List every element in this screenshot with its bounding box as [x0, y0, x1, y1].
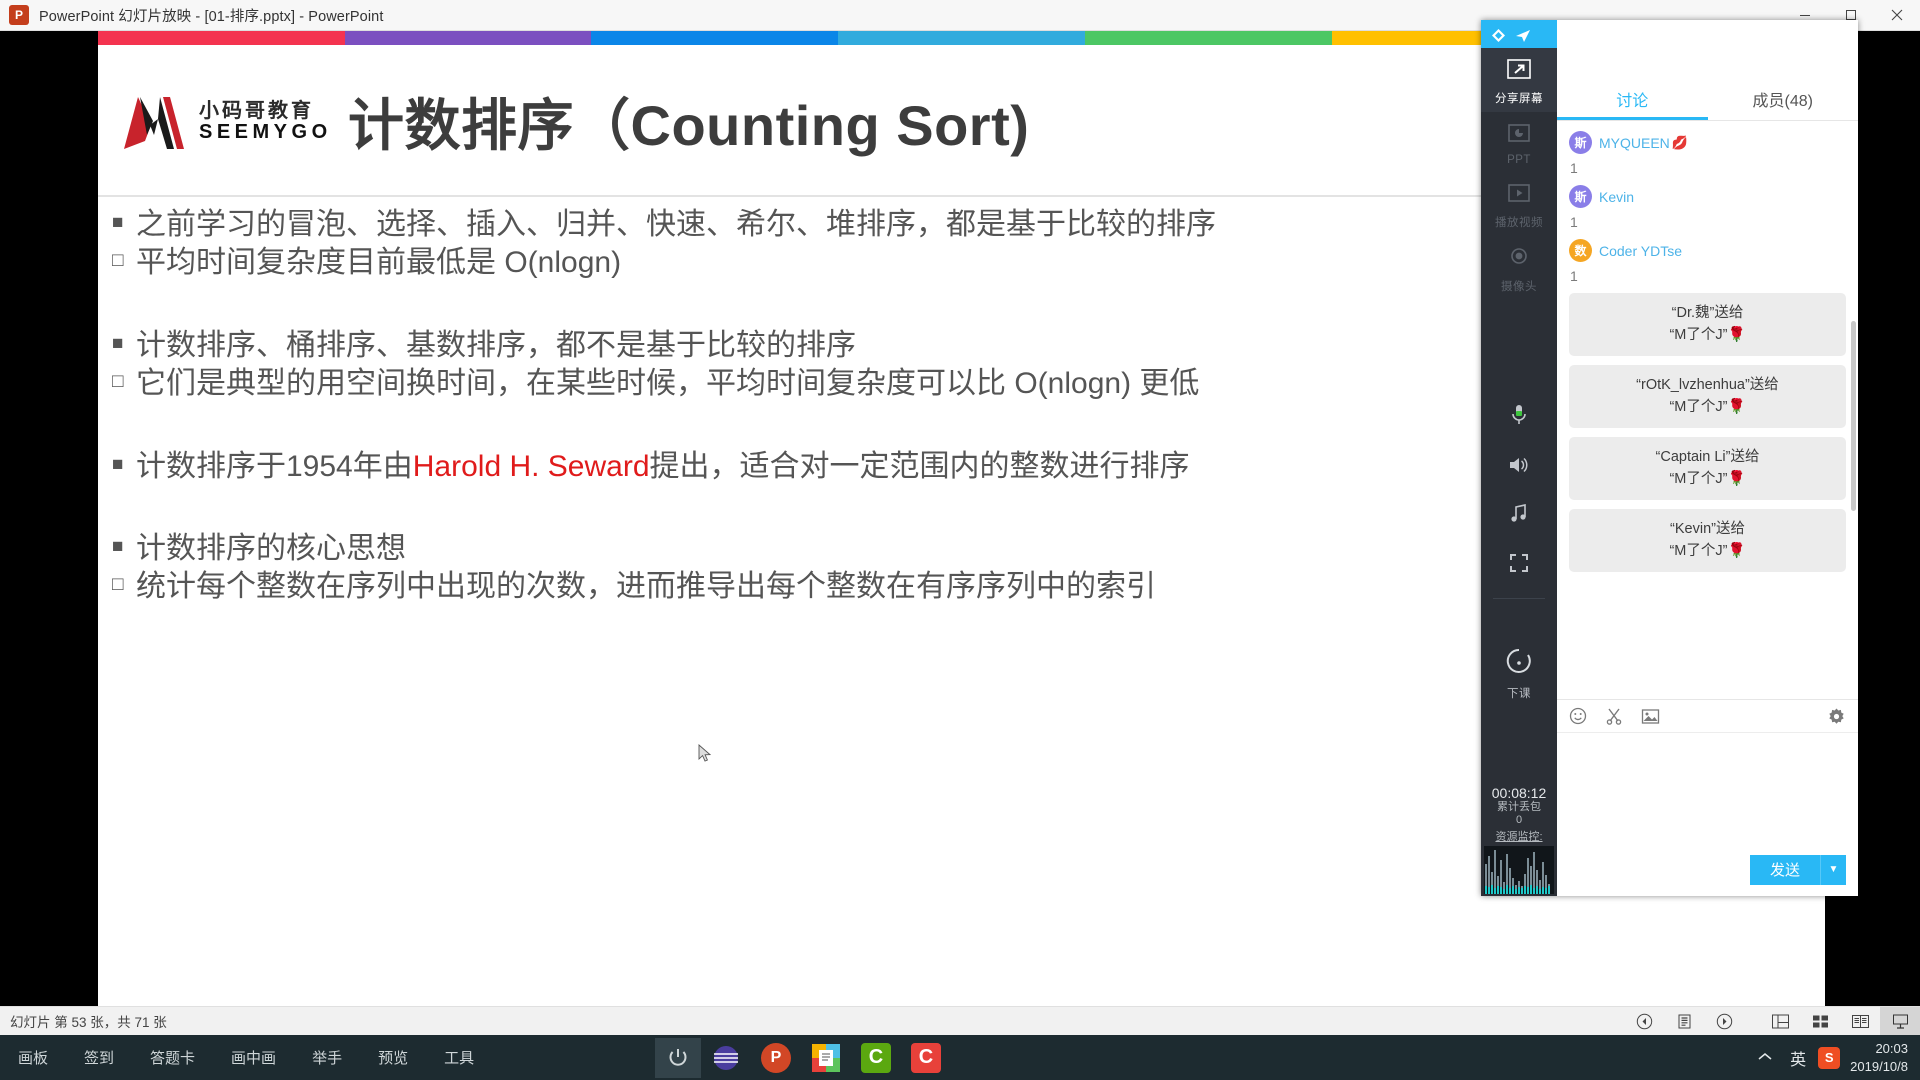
- gift-line-2: “M了个J”🌹: [1577, 324, 1838, 346]
- rainbow-seg-2: [345, 31, 592, 45]
- normal-view-icon[interactable]: [1760, 1007, 1800, 1036]
- gift-line-2: “M了个J”🌹: [1577, 540, 1838, 562]
- taskbar-tray: 英 S 20:03 2019/10/8: [1748, 1035, 1920, 1080]
- panel-left-toolbar: 分享屏幕 PPT 播放视频: [1481, 48, 1557, 896]
- music-button[interactable]: [1481, 492, 1557, 541]
- panel-right-column: 讨论 成员(48) 斯 MYQUEEN 💋 1 斯 Kevin: [1557, 20, 1858, 896]
- mouse-cursor: [698, 744, 712, 764]
- slide-sorter-icon[interactable]: [1800, 1007, 1840, 1036]
- message-body: 1: [1570, 160, 1846, 176]
- statusbar-icons: [1624, 1007, 1920, 1036]
- bullet-text-before: 计数排序于1954年由: [136, 451, 413, 483]
- gift-line-2: “M了个J”🌹: [1577, 396, 1838, 418]
- chevron-up-icon[interactable]: [1748, 1050, 1782, 1065]
- ppt-icon: [1504, 122, 1534, 146]
- fullscreen-icon: [1508, 552, 1530, 574]
- share-screen-button[interactable]: 分享屏幕: [1481, 48, 1557, 112]
- close-icon[interactable]: [1874, 0, 1920, 31]
- gift-notification: “rOtK_lvzhenhua”送给 “M了个J”🌹: [1569, 365, 1846, 428]
- logo-text-cn: 小码哥教育: [199, 101, 332, 122]
- fullscreen-button[interactable]: [1481, 541, 1557, 590]
- avatar[interactable]: 斯: [1569, 131, 1592, 154]
- message-author[interactable]: MYQUEEN: [1599, 135, 1670, 151]
- bullet-marker-filled: [112, 533, 136, 561]
- message-header: 数 Coder YDTse: [1569, 239, 1846, 262]
- chat-scrollbar[interactable]: [1851, 321, 1856, 511]
- tool-raise-hand[interactable]: 举手: [294, 1035, 360, 1080]
- diamond-badge-icon[interactable]: [1491, 28, 1506, 48]
- camera-icon: [1504, 246, 1534, 270]
- ppt-button[interactable]: PPT: [1481, 112, 1557, 172]
- message-body: 1: [1570, 268, 1846, 284]
- camtasia-green-icon[interactable]: C: [851, 1035, 901, 1080]
- chat-input[interactable]: [1557, 733, 1858, 843]
- rainbow-seg-5: [1085, 31, 1332, 45]
- chat-message: 数 Coder YDTse 1: [1569, 239, 1846, 284]
- microphone-icon: [1508, 403, 1530, 427]
- message-author[interactable]: Coder YDTse: [1599, 243, 1682, 259]
- ime-indicator[interactable]: 英: [1782, 1046, 1814, 1070]
- gift-notification: “Kevin”送给 “M了个J”🌹: [1569, 509, 1846, 572]
- play-video-icon: [1504, 182, 1534, 206]
- resource-monitor-graph: [1484, 846, 1554, 894]
- speaker-icon: [1507, 454, 1531, 476]
- avatar[interactable]: 斯: [1569, 185, 1592, 208]
- rainbow-seg-3: [591, 31, 838, 45]
- message-header: 斯 Kevin: [1569, 185, 1846, 208]
- taskbar-apps: P C C: [655, 1035, 951, 1080]
- sogou-icon[interactable]: S: [1818, 1047, 1840, 1069]
- powerpoint-icon: P: [9, 5, 29, 25]
- slide-title: 计数排序（Counting Sort): [348, 81, 1029, 162]
- packet-loss-value: 0: [1481, 814, 1557, 828]
- previous-slide-icon[interactable]: [1624, 1007, 1664, 1036]
- clock-date: 2019/10/8: [1850, 1058, 1908, 1076]
- chat-message: 斯 MYQUEEN 💋 1: [1569, 131, 1846, 176]
- bullet-marker-filled: [112, 451, 136, 479]
- gear-icon[interactable]: [1827, 707, 1846, 726]
- camera-label: 摄像头: [1481, 278, 1557, 294]
- bullet-marker-hollow: [112, 247, 136, 275]
- bullet-marker-hollow: [112, 368, 136, 396]
- powerpoint-icon[interactable]: P: [751, 1035, 801, 1080]
- end-class-label: 下课: [1481, 685, 1557, 701]
- bullet-text: 之前学习的冒泡、选择、插入、归并、快速、希尔、堆排序，都是基于比较的排序: [136, 209, 1216, 241]
- microphone-button[interactable]: [1481, 392, 1557, 443]
- ppt-label: PPT: [1481, 154, 1557, 166]
- bullet-marker-filled: [112, 209, 136, 237]
- pin-plane-icon[interactable]: [1515, 28, 1531, 48]
- gift-notification: “Captain Li”送给 “M了个J”🌹: [1569, 437, 1846, 500]
- tab-discussion[interactable]: 讨论: [1557, 78, 1708, 120]
- brand-logo: 小码哥教育 SEEMYGO: [120, 91, 332, 153]
- end-class-icon: [1503, 647, 1535, 677]
- tab-members[interactable]: 成员(48): [1708, 78, 1859, 120]
- tool-pip[interactable]: 画中画: [213, 1035, 294, 1080]
- powerpoint-statusbar: 幻灯片 第 53 张，共 71 张: [0, 1006, 1920, 1035]
- avatar[interactable]: 数: [1569, 239, 1592, 262]
- elapsed-time: 00:08:12: [1481, 785, 1557, 801]
- emoji-icon[interactable]: [1569, 707, 1587, 725]
- play-video-button[interactable]: 播放视频: [1481, 172, 1557, 236]
- gift-line-1: “Dr.魏”送给: [1672, 305, 1744, 321]
- power-icon[interactable]: [655, 1038, 701, 1078]
- chat-input-toolbar: [1557, 699, 1858, 733]
- gift-line-1: “Kevin”送给: [1670, 521, 1745, 537]
- send-button-group[interactable]: 发送 ▼: [1750, 855, 1846, 885]
- bullet-text: 统计每个整数在序列中出现的次数，进而推导出每个整数在有序序列中的索引: [136, 571, 1156, 603]
- screen: P PowerPoint 幻灯片放映 - [01-排序.pptx] - Powe…: [0, 0, 1920, 1080]
- play-video-label: 播放视频: [1481, 214, 1557, 230]
- gift-notification: “Dr.魏”送给 “M了个J”🌹: [1569, 293, 1846, 356]
- resource-monitor-label[interactable]: 资源监控:: [1481, 828, 1557, 844]
- message-body: 1: [1570, 214, 1846, 230]
- tool-answer-card[interactable]: 答题卡: [132, 1035, 213, 1080]
- bullet-text: 计数排序、桶排序、基数排序，都不是基于比较的排序: [136, 330, 856, 362]
- tencent-classroom-panel: 腾讯课堂 分享屏幕 PPT: [1481, 20, 1858, 896]
- chat-message-list[interactable]: 斯 MYQUEEN 💋 1 斯 Kevin 1 数: [1557, 121, 1858, 699]
- send-dropdown-icon[interactable]: ▼: [1820, 855, 1846, 885]
- gift-line-1: “Captain Li”送给: [1656, 449, 1760, 465]
- share-screen-icon: [1504, 58, 1534, 82]
- gift-line-2: “M了个J”🌹: [1577, 468, 1838, 490]
- bullet-text: 计数排序的核心思想: [136, 533, 406, 565]
- connection-stats: 00:08:12 累计丢包 0 资源监控:: [1481, 785, 1557, 897]
- message-header: 斯 MYQUEEN 💋: [1569, 131, 1846, 154]
- scissors-icon[interactable]: [1605, 707, 1623, 725]
- logo-text-en: SEEMYGO: [199, 122, 332, 143]
- slideshow-view-icon[interactable]: [1880, 1007, 1920, 1036]
- camtasia-red-icon[interactable]: C: [901, 1035, 951, 1080]
- bullet-marker-filled: [112, 330, 136, 358]
- bullet-text-after: 提出，适合对一定范围内的整数进行排序: [650, 451, 1190, 483]
- bullet-text: 平均时间复杂度目前最低是 O(nlogn): [136, 247, 621, 279]
- bullet-text: 它们是典型的用空间换时间，在某些时候，平均时间复杂度可以比 O(nlogn) 更…: [136, 368, 1199, 400]
- taskbar-clock[interactable]: 20:03 2019/10/8: [1850, 1040, 1908, 1075]
- tool-tools[interactable]: 工具: [426, 1035, 492, 1080]
- chat-input-box[interactable]: [1557, 733, 1858, 843]
- clock-time: 20:03: [1850, 1040, 1908, 1058]
- seemygo-logo-icon: [120, 91, 194, 153]
- speaker-button[interactable]: [1481, 443, 1557, 492]
- tool-preview[interactable]: 预览: [360, 1035, 426, 1080]
- share-screen-label: 分享屏幕: [1481, 90, 1557, 106]
- bottom-taskbar: 画板 签到 答题卡 画中画 举手 预览 工具 P C: [0, 1035, 1920, 1080]
- end-class-button[interactable]: 下课: [1481, 637, 1557, 707]
- window-title: PowerPoint 幻灯片放映 - [01-排序.pptx] - PowerP…: [39, 5, 383, 26]
- lips-emoji-icon: 💋: [1672, 135, 1688, 151]
- tool-whiteboard[interactable]: 画板: [0, 1035, 66, 1080]
- image-icon[interactable]: [1641, 708, 1660, 725]
- send-row: 发送 ▼: [1557, 843, 1858, 896]
- reading-view-icon[interactable]: [1840, 1007, 1880, 1036]
- message-author[interactable]: Kevin: [1599, 189, 1634, 205]
- bullet-text-highlight: Harold H. Seward: [413, 451, 650, 483]
- panel-tabs: 讨论 成员(48): [1557, 78, 1858, 121]
- tool-signin[interactable]: 签到: [66, 1035, 132, 1080]
- notes-icon[interactable]: [1664, 1007, 1704, 1036]
- rainbow-seg-1: [98, 31, 345, 45]
- class-tools: 画板 签到 答题卡 画中画 举手 预览 工具: [0, 1035, 492, 1080]
- chat-message: 斯 Kevin 1: [1569, 185, 1846, 230]
- toolbar-divider: [1493, 598, 1545, 599]
- gift-line-1: “rOtK_lvzhenhua”送给: [1636, 377, 1779, 393]
- rainbow-seg-4: [838, 31, 1085, 45]
- next-slide-icon[interactable]: [1704, 1007, 1744, 1036]
- send-button[interactable]: 发送: [1750, 859, 1820, 880]
- camera-button[interactable]: 摄像头: [1481, 236, 1557, 300]
- packet-loss-label: 累计丢包: [1481, 801, 1557, 815]
- music-icon: [1508, 503, 1530, 525]
- disc-icon[interactable]: [701, 1035, 751, 1080]
- slide-counter: 幻灯片 第 53 张，共 71 张: [10, 1011, 167, 1031]
- notes-icon[interactable]: [801, 1035, 851, 1080]
- bullet-marker-hollow: [112, 571, 136, 599]
